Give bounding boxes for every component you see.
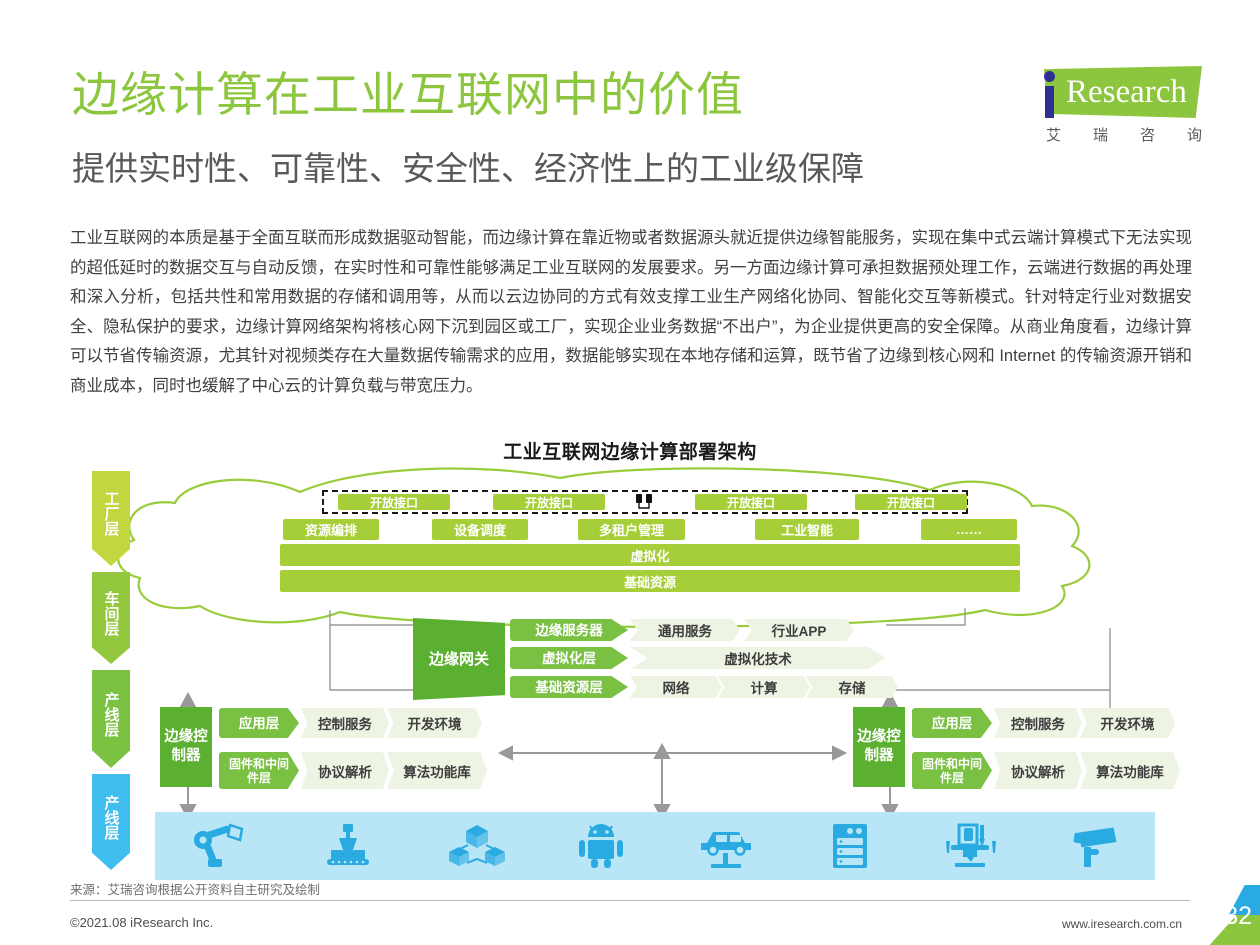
ctrl-left-item-control-service[interactable]: 控制服务 xyxy=(301,708,389,738)
server-rack-icon xyxy=(828,823,872,869)
edge-controller-right-label[interactable]: 边缘控制器 xyxy=(853,707,905,787)
cnc-machine-icon xyxy=(943,823,999,869)
open-interface-chip-1[interactable]: 开放接口 xyxy=(338,494,450,510)
ctrl-left-row-label-firmware[interactable]: 固件和中间件层 xyxy=(219,752,299,789)
ctrl-right-row-label-app[interactable]: 应用层 xyxy=(912,708,992,738)
ctrl-right-item-control-service[interactable]: 控制服务 xyxy=(994,708,1082,738)
ctrl-left-item-protocol-parse[interactable]: 协议解析 xyxy=(301,752,389,789)
gateway-item-industry-app[interactable]: 行业APP xyxy=(744,619,854,641)
blockchain-nodes-icon xyxy=(448,823,506,869)
gateway-item-network[interactable]: 网络 xyxy=(630,676,722,698)
gateway-item-compute[interactable]: 计算 xyxy=(718,676,810,698)
ctrl-left-item-algorithm-lib[interactable]: 算法功能库 xyxy=(387,752,487,789)
layer-label-text: 工厂层 xyxy=(103,491,120,536)
gateway-row-label-edge-server[interactable]: 边缘服务器 xyxy=(510,619,628,641)
architecture-diagram: 工厂层 车间层 产线层 产线层 开放接口 开放接口 开放接口 开放接口 资源编排… xyxy=(0,0,1260,945)
slide-page: 边缘计算在工业互联网中的价值 提供实时性、可靠性、安全性、经济性上的工业级保障 … xyxy=(0,0,1260,945)
device-icon-row xyxy=(155,812,1155,880)
edge-controller-left-label[interactable]: 边缘控制器 xyxy=(160,707,212,787)
layer-label-line-2: 产线层 xyxy=(92,774,130,870)
footer-website[interactable]: www.iresearch.com.cn xyxy=(1062,917,1182,931)
page-number: 32 xyxy=(1224,902,1252,931)
service-chip-resource-orchestration[interactable]: 资源编排 xyxy=(283,519,379,540)
service-chip-more[interactable]: …… xyxy=(921,519,1017,540)
press-machine-icon xyxy=(319,823,377,869)
diagram-connectors-svg xyxy=(0,0,1260,945)
android-robot-icon xyxy=(577,823,625,869)
gateway-row-label-virtualization[interactable]: 虚拟化层 xyxy=(510,647,628,669)
ctrl-right-row-label-firmware-text: 固件和中间件层 xyxy=(921,757,983,785)
gateway-row-label-base-resource[interactable]: 基础资源层 xyxy=(510,676,628,698)
layer-label-text: 车间层 xyxy=(103,591,120,636)
layer-label-text: 产线层 xyxy=(103,795,120,840)
edge-gateway-label[interactable]: 边缘网关 xyxy=(413,618,505,700)
footer-divider xyxy=(70,900,1190,901)
layer-label-line-1: 产线层 xyxy=(92,670,130,768)
open-interface-chip-4[interactable]: 开放接口 xyxy=(855,494,967,510)
open-interface-chip-3[interactable]: 开放接口 xyxy=(695,494,807,510)
ctrl-right-item-protocol-parse[interactable]: 协议解析 xyxy=(994,752,1082,789)
source-note: 来源：艾瑞咨询根据公开资料自主研究及绘制 xyxy=(70,879,320,898)
ctrl-left-row-label-firmware-text: 固件和中间件层 xyxy=(228,757,290,785)
gateway-item-virtualization-tech[interactable]: 虚拟化技术 xyxy=(630,647,886,669)
layer-label-workshop: 车间层 xyxy=(92,572,130,664)
gateway-item-general-service[interactable]: 通用服务 xyxy=(630,619,740,641)
footer-copyright: ©2021.08 iResearch Inc. xyxy=(70,915,213,930)
service-chip-industrial-ai[interactable]: 工业智能 xyxy=(755,519,859,540)
connector-plug-icon xyxy=(633,491,655,513)
open-interface-chip-2[interactable]: 开放接口 xyxy=(493,494,605,510)
car-lift-icon xyxy=(695,823,757,869)
ctrl-left-item-dev-env[interactable]: 开发环境 xyxy=(387,708,482,738)
service-chip-multi-tenant[interactable]: 多租户管理 xyxy=(578,519,685,540)
robot-arm-icon xyxy=(190,823,248,869)
cloud-bar-base-resource[interactable]: 基础资源 xyxy=(280,570,1020,592)
ctrl-left-row-label-app[interactable]: 应用层 xyxy=(219,708,299,738)
service-chip-device-scheduling[interactable]: 设备调度 xyxy=(432,519,528,540)
gateway-item-storage[interactable]: 存储 xyxy=(806,676,898,698)
ctrl-right-row-label-firmware[interactable]: 固件和中间件层 xyxy=(912,752,992,789)
layer-label-text: 产线层 xyxy=(103,692,120,737)
layer-label-factory: 工厂层 xyxy=(92,471,130,566)
cctv-camera-icon xyxy=(1070,823,1120,869)
ctrl-right-item-algorithm-lib[interactable]: 算法功能库 xyxy=(1080,752,1180,789)
cloud-bar-virtualization[interactable]: 虚拟化 xyxy=(280,544,1020,566)
ctrl-right-item-dev-env[interactable]: 开发环境 xyxy=(1080,708,1175,738)
